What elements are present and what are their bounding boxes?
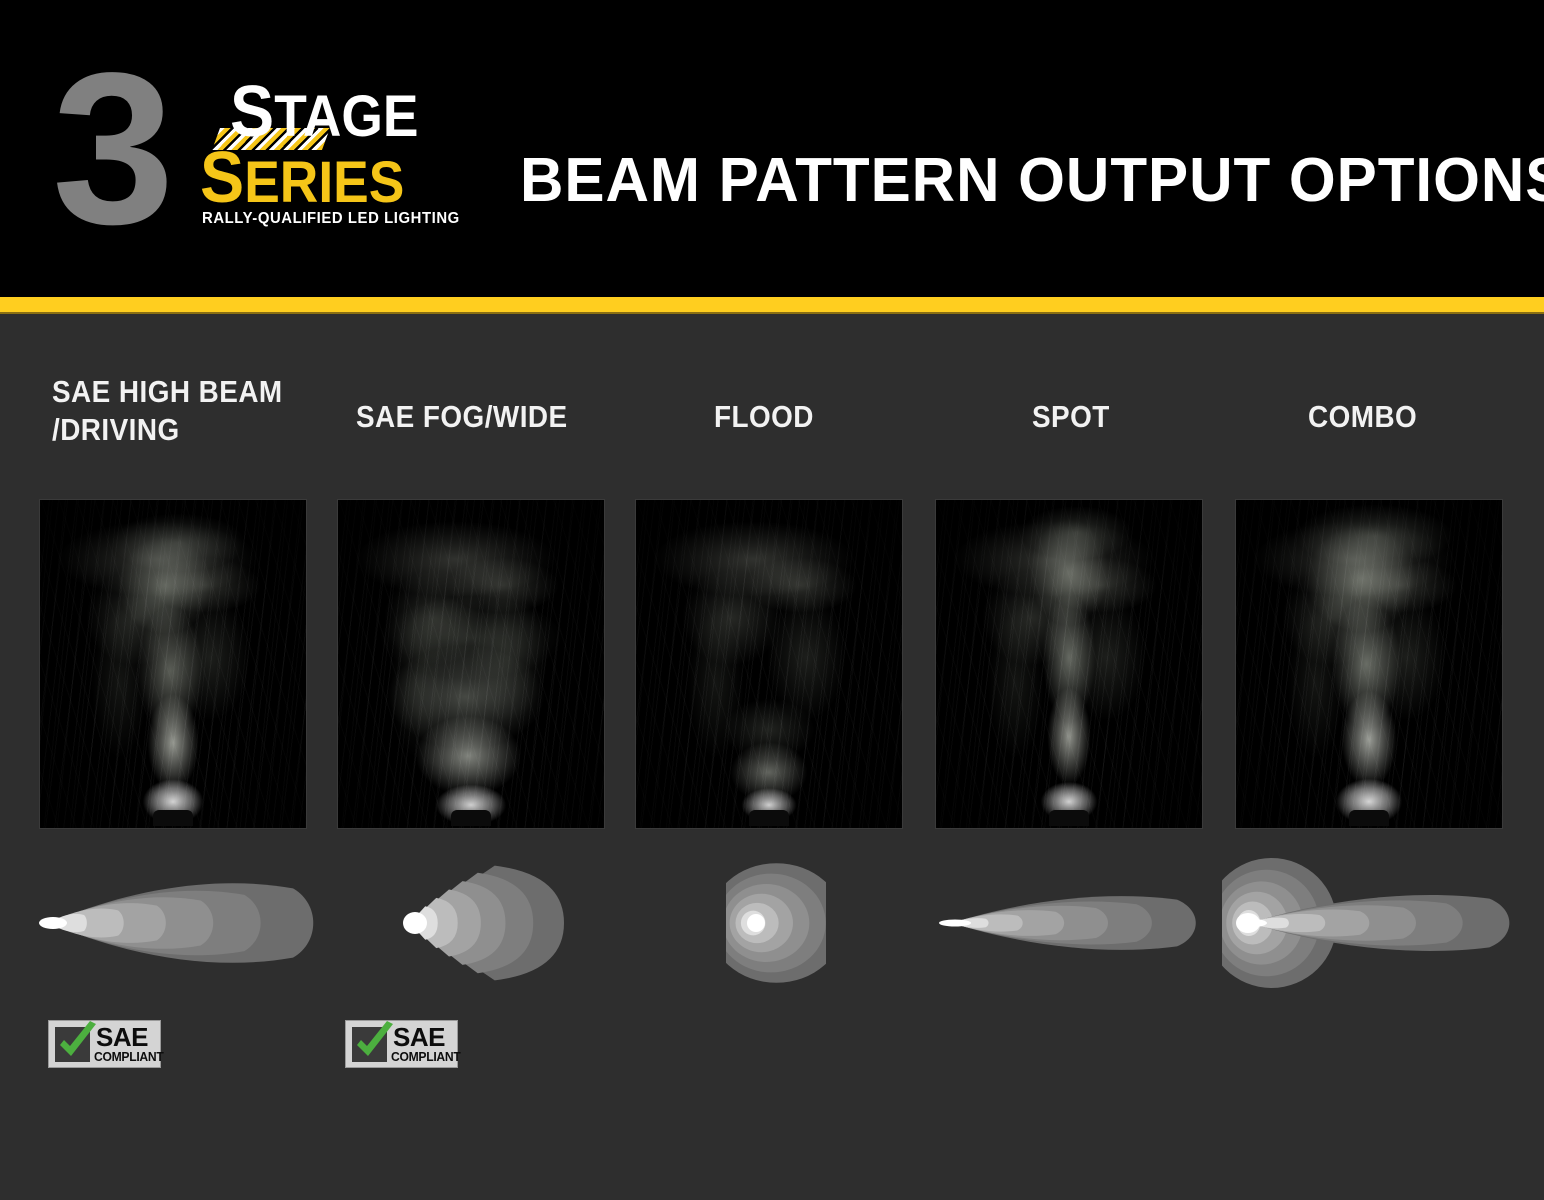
photo-scene	[1236, 500, 1502, 828]
badge-sae-text: SAE	[393, 1024, 445, 1050]
comparison-panel: SAE HIGH BEAM /DRIVINGSAECOMPLIANTSAE FO…	[0, 314, 1544, 1200]
badge-compliant-text: COMPLIANT	[391, 1051, 460, 1064]
beam-shape-diagram-flood	[726, 858, 826, 988]
sae-compliant-badge-sae-high-beam-driving: SAECOMPLIANT	[48, 1020, 161, 1068]
logo-series-rest: ERIES	[244, 150, 404, 215]
photo-vignette	[636, 500, 902, 828]
beam-shape-diagram-combo	[1222, 858, 1522, 988]
photo-scene	[636, 500, 902, 828]
photo-scene	[936, 500, 1202, 828]
header-bar: 3 STAGE SERIES RALLY-QUALIFIED LED LIGHT…	[0, 0, 1544, 297]
photo-vignette	[338, 500, 604, 828]
photo-scene	[40, 500, 306, 828]
logo-word-series: SERIES	[200, 142, 404, 214]
beam-photo-sae-fog-wide	[338, 500, 604, 828]
photo-vignette	[1236, 500, 1502, 828]
beam-shape-diagram-spot	[938, 858, 1208, 988]
beam-photo-flood	[636, 500, 902, 828]
beam-shape-diagram-sae-high-beam-driving	[36, 858, 326, 988]
logo-word-stage: STAGE	[230, 76, 418, 148]
yellow-accent-divider	[0, 297, 1544, 314]
photo-scene	[338, 500, 604, 828]
vehicle-hood-silhouette	[451, 810, 491, 826]
vehicle-hood-silhouette	[1049, 810, 1089, 826]
beam-shape-diagram-sae-fog-wide	[392, 858, 572, 988]
logo-tagline: RALLY-QUALIFIED LED LIGHTING	[202, 210, 460, 228]
logo-stage-rest: TAGE	[274, 84, 418, 149]
page-title: BEAM PATTERN OUTPUT OPTIONS	[520, 150, 1490, 212]
badge-sae-text: SAE	[96, 1024, 148, 1050]
beam-photo-spot	[936, 500, 1202, 828]
vehicle-hood-silhouette	[1349, 810, 1389, 826]
logo-series-initial: S	[200, 138, 244, 218]
column-label-flood: FLOOD	[714, 398, 814, 436]
vehicle-hood-silhouette	[749, 810, 789, 826]
beam-pattern-infographic: 3 STAGE SERIES RALLY-QUALIFIED LED LIGHT…	[0, 0, 1544, 1200]
beam-photo-combo	[1236, 500, 1502, 828]
stage-series-logo: 3 STAGE SERIES RALLY-QUALIFIED LED LIGHT…	[52, 54, 472, 239]
beam-photo-sae-high-beam-driving	[40, 500, 306, 828]
photo-vignette	[40, 500, 306, 828]
photo-vignette	[936, 500, 1202, 828]
logo-numeral-three: 3	[52, 40, 168, 256]
column-label-sae-fog-wide: SAE FOG/WIDE	[356, 398, 568, 436]
column-label-spot: SPOT	[1032, 398, 1110, 436]
column-label-sae-high-beam-driving: SAE HIGH BEAM /DRIVING	[52, 373, 283, 449]
badge-compliant-text: COMPLIANT	[94, 1051, 163, 1064]
vehicle-hood-silhouette	[153, 810, 193, 826]
column-label-combo: COMBO	[1308, 398, 1417, 436]
sae-compliant-badge-sae-fog-wide: SAECOMPLIANT	[345, 1020, 458, 1068]
